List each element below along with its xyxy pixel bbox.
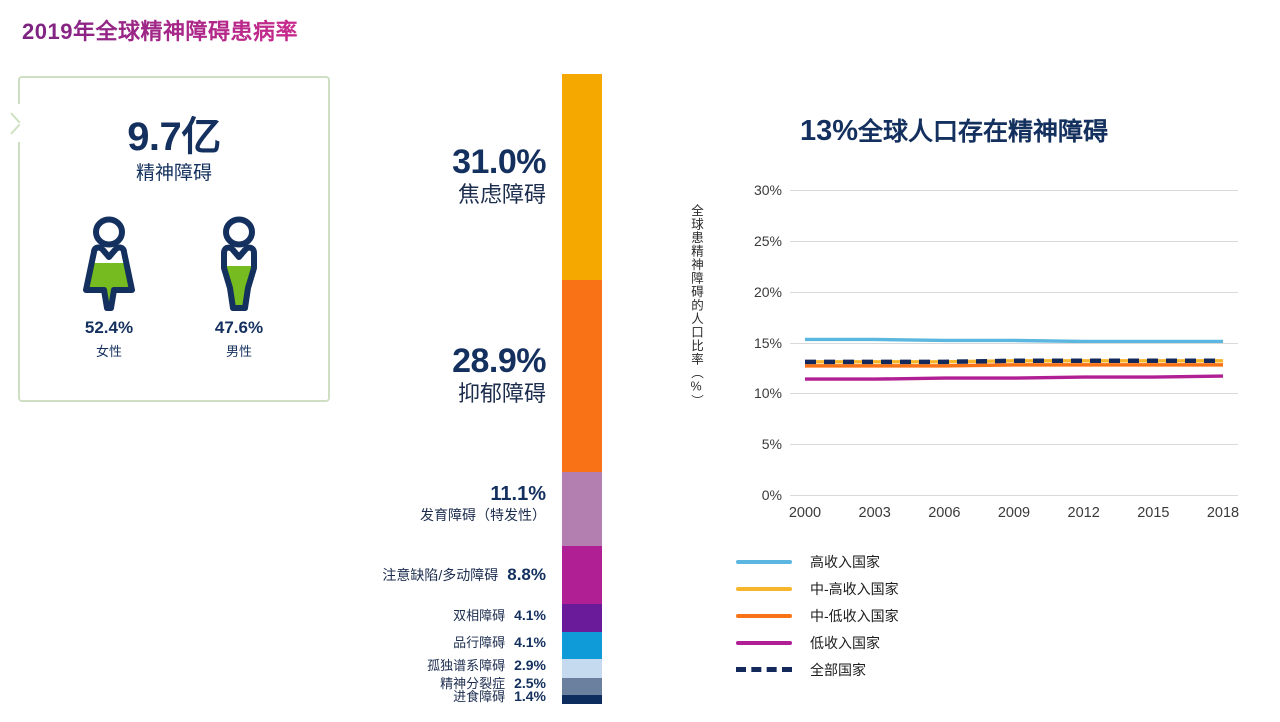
legend-label: 中-低收入国家 xyxy=(810,606,899,626)
female-figure-icon xyxy=(70,216,148,312)
female-label: 女性 xyxy=(96,341,122,360)
legend-label: 中-高收入国家 xyxy=(810,579,899,599)
prevalence-trend-panel: 13%全球人口存在精神障碍 全球患精神障碍的人口比率（%） 0%5%10%15%… xyxy=(640,100,1268,710)
stacked-bar-label: 进食障碍1.4% xyxy=(453,689,546,705)
legend-item[interactable]: 中-高收入国家 xyxy=(736,575,899,602)
stacked-bar-label: 孤独谱系障碍2.9% xyxy=(427,658,546,674)
summary-card: 9.7亿 精神障碍 52.4% 女性 xyxy=(18,76,330,402)
y-axis-title: 全球患精神障碍的人口比率（%） xyxy=(680,204,702,454)
x-axis-tick: 2015 xyxy=(1137,505,1169,521)
stacked-bar-segment[interactable] xyxy=(562,546,602,604)
stacked-bar-segment[interactable] xyxy=(562,74,602,280)
segment-percent: 4.1% xyxy=(514,635,546,651)
series-line xyxy=(805,365,1223,366)
legend-item[interactable]: 全部国家 xyxy=(736,656,899,683)
stacked-bar-chart xyxy=(562,74,602,704)
male-label: 男性 xyxy=(226,341,252,360)
chart-legend: 高收入国家中-高收入国家中-低收入国家低收入国家全部国家 xyxy=(736,548,899,683)
series-line xyxy=(805,339,1223,341)
female-percent: 52.4% xyxy=(85,318,133,338)
gridline xyxy=(790,393,1238,394)
plot-area: 0%5%10%15%20%25%30%200020032006200920122… xyxy=(790,190,1238,495)
y-axis-tick: 0% xyxy=(762,487,782,503)
segment-name: 进食障碍 xyxy=(453,690,505,705)
segment-name: 发育障碍（特发性） xyxy=(420,508,546,524)
legend-swatch xyxy=(736,667,792,672)
x-axis-tick: 2018 xyxy=(1207,505,1239,521)
stacked-bar-segment[interactable] xyxy=(562,659,602,678)
segment-name: 品行障碍 xyxy=(453,636,505,651)
y-axis-tick: 30% xyxy=(754,182,782,198)
disorder-breakdown: 31.0%焦虑障碍28.9%抑郁障碍11.1%发育障碍（特发性）注意缺陷/多动障… xyxy=(330,74,602,706)
chart-headline-percent: 13% xyxy=(800,115,858,147)
gender-block-male: 47.6% 男性 xyxy=(200,216,278,360)
segment-percent: 31.0% xyxy=(452,143,546,181)
stacked-bar-label: 品行障碍4.1% xyxy=(453,635,546,651)
y-axis-tick: 20% xyxy=(754,284,782,300)
page-title: 2019年全球精神障碍患病率 xyxy=(22,14,298,46)
legend-swatch xyxy=(736,641,792,645)
legend-swatch xyxy=(736,560,792,564)
legend-label: 全部国家 xyxy=(810,660,866,680)
x-axis-tick: 2003 xyxy=(859,505,891,521)
chart-headline-text: 全球人口存在精神障碍 xyxy=(858,118,1108,146)
segment-percent: 4.1% xyxy=(514,608,546,624)
total-affected-value: 9.7亿 xyxy=(20,104,328,162)
legend-label: 高收入国家 xyxy=(810,552,880,572)
segment-percent: 11.1% xyxy=(420,483,546,505)
segment-percent: 8.8% xyxy=(507,565,546,584)
stacked-bar-segment[interactable] xyxy=(562,472,602,546)
legend-swatch xyxy=(736,614,792,618)
y-axis-tick: 10% xyxy=(754,385,782,401)
gridline xyxy=(790,343,1238,344)
stacked-bar-label: 双相障碍4.1% xyxy=(453,608,546,624)
stacked-bar-label: 注意缺陷/多动障碍8.8% xyxy=(382,565,546,584)
segment-name: 孤独谱系障碍 xyxy=(427,659,505,674)
gridline xyxy=(790,241,1238,242)
chart-title: 13%全球人口存在精神障碍 xyxy=(640,112,1268,148)
gender-split: 52.4% 女性 47.6% 男性 xyxy=(20,216,328,360)
legend-item[interactable]: 低收入国家 xyxy=(736,629,899,656)
segment-percent: 28.9% xyxy=(452,342,546,380)
segment-name: 双相障碍 xyxy=(453,609,505,624)
gridline xyxy=(790,292,1238,293)
total-affected-label: 精神障碍 xyxy=(20,158,328,185)
series-line xyxy=(805,376,1223,379)
segment-name: 注意缺陷/多动障碍 xyxy=(382,568,498,584)
stacked-bar-label: 11.1%发育障碍（特发性） xyxy=(420,483,546,524)
segment-name: 焦虑障碍 xyxy=(452,183,546,208)
stacked-bar-label: 31.0%焦虑障碍 xyxy=(452,143,546,208)
male-figure-icon xyxy=(200,216,278,312)
x-axis-tick: 2012 xyxy=(1068,505,1100,521)
y-axis-tick: 15% xyxy=(754,335,782,351)
stacked-bar-segment[interactable] xyxy=(562,678,602,695)
segment-percent: 2.9% xyxy=(514,658,546,674)
gender-block-female: 52.4% 女性 xyxy=(70,216,148,360)
x-axis-tick: 2009 xyxy=(998,505,1030,521)
y-axis-tick: 5% xyxy=(762,436,782,452)
gridline xyxy=(790,495,1238,496)
stacked-bar-segment[interactable] xyxy=(562,280,602,472)
legend-label: 低收入国家 xyxy=(810,633,880,653)
x-axis-tick: 2006 xyxy=(928,505,960,521)
legend-item[interactable]: 中-低收入国家 xyxy=(736,602,899,629)
gridline xyxy=(790,190,1238,191)
male-percent: 47.6% xyxy=(215,318,263,338)
y-axis-tick: 25% xyxy=(754,233,782,249)
stacked-bar-segment[interactable] xyxy=(562,604,602,631)
gridline xyxy=(790,444,1238,445)
stacked-bar-label: 28.9%抑郁障碍 xyxy=(452,342,546,407)
stacked-bar-segment[interactable] xyxy=(562,632,602,659)
legend-swatch xyxy=(736,587,792,591)
legend-item[interactable]: 高收入国家 xyxy=(736,548,899,575)
segment-name: 抑郁障碍 xyxy=(452,382,546,407)
segment-percent: 1.4% xyxy=(514,689,546,705)
x-axis-tick: 2000 xyxy=(789,505,821,521)
stacked-bar-segment[interactable] xyxy=(562,695,602,704)
